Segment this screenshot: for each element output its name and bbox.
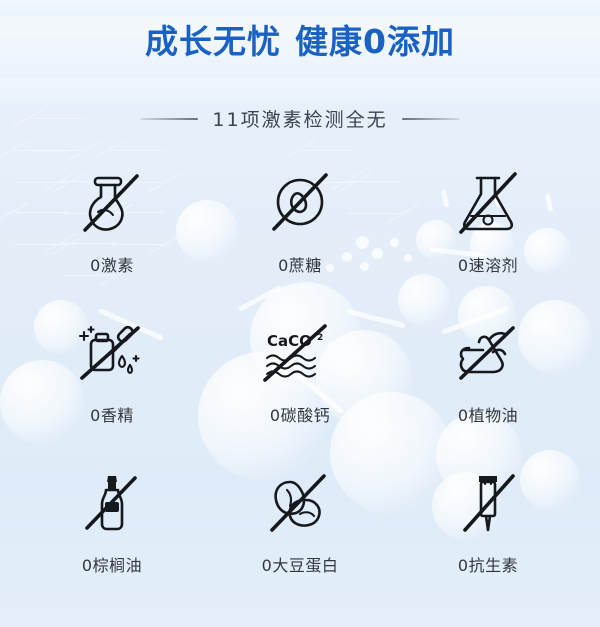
page-subtitle: 11项激素检测全无 (212, 105, 387, 132)
feature-item-fragrance: 0香精 (18, 308, 206, 458)
feature-grid: 0激素 0蔗糖 (18, 158, 582, 608)
feature-item-soy-protein: 0大豆蛋白 (206, 458, 394, 608)
headline-part-2: 健康0添加 (295, 22, 455, 61)
feature-label: 0抗生素 (458, 552, 518, 576)
syringe-vial-crossed-icon (446, 466, 530, 540)
feature-item-instant-solvent: 0速溶剂 (394, 158, 582, 308)
feature-label: 0植物油 (458, 402, 518, 426)
subtitle-row: 11项激素检测全无 (0, 105, 600, 132)
page-headline: 成长无忧健康0添加 (0, 21, 600, 63)
caco-formula-text: CaCO (267, 332, 312, 350)
feature-label: 0大豆蛋白 (262, 552, 339, 576)
headline-part-1: 成长无忧 (145, 22, 281, 61)
feature-label: 0棕榈油 (82, 552, 142, 576)
background-band-subtitle (0, 78, 600, 106)
conical-flask-crossed-icon (446, 166, 530, 240)
feature-item-vegetable-oil: 0植物油 (394, 308, 582, 458)
plant-oil-crossed-icon (446, 316, 530, 390)
rule-right (402, 118, 460, 120)
caco3-waves-crossed-icon: CaCO 2 (258, 316, 342, 390)
feature-item-antibiotics: 0抗生素 (394, 458, 582, 608)
sugar-bowl-crossed-icon (258, 166, 342, 240)
feature-item-calcium-carbonate: CaCO 2 0碳酸钙 (206, 308, 394, 458)
feature-label: 0碳酸钙 (270, 402, 330, 426)
oil-bottle-crossed-icon (70, 466, 154, 540)
promo-page: 成长无忧健康0添加 11项激素检测全无 0激素 (0, 0, 600, 627)
background-band-top (0, 0, 600, 18)
feature-label: 0香精 (90, 402, 134, 426)
dropper-bottle-crossed-icon (70, 316, 154, 390)
rule-left (140, 118, 198, 120)
feature-item-sucrose: 0蔗糖 (206, 158, 394, 308)
feature-label: 0速溶剂 (458, 252, 518, 276)
feature-item-hormone: 0激素 (18, 158, 206, 308)
feature-label: 0激素 (90, 252, 134, 276)
feature-item-palm-oil: 0棕榈油 (18, 458, 206, 608)
feature-label: 0蔗糖 (278, 252, 322, 276)
soybean-crossed-icon (258, 466, 342, 540)
round-flask-crossed-icon (70, 166, 154, 240)
